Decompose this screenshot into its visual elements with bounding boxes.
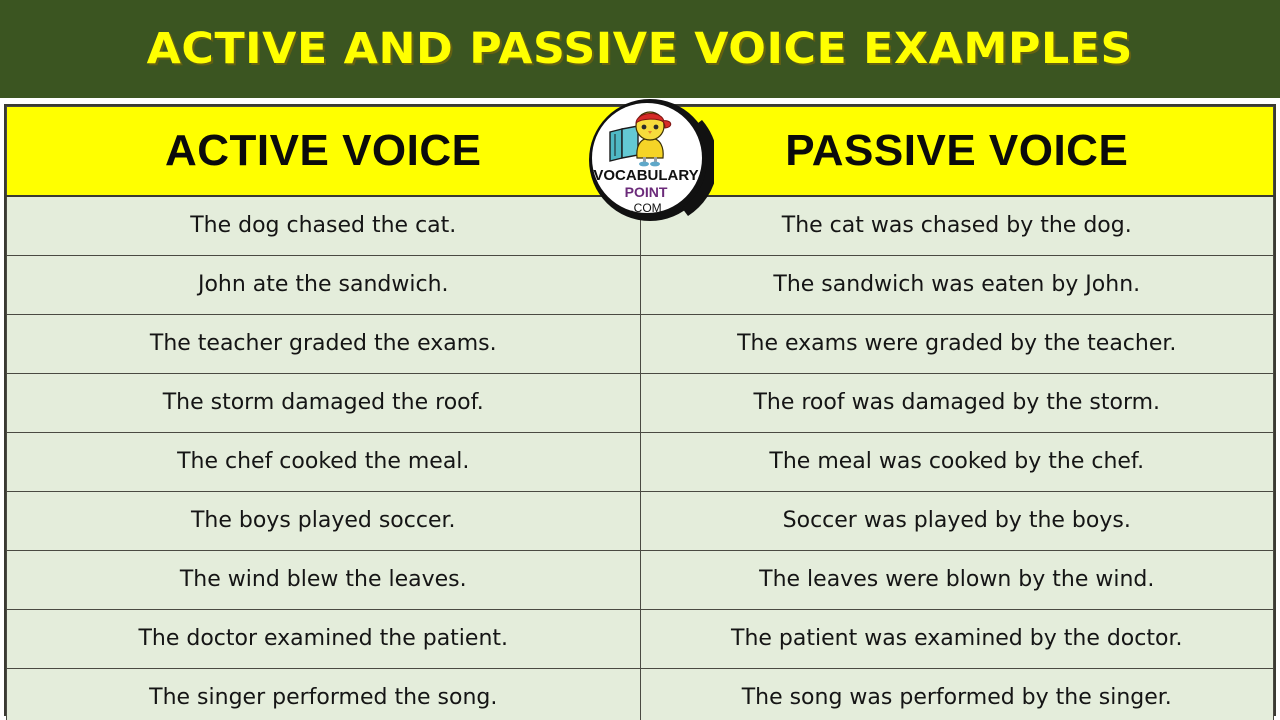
table-cell-active: The chef cooked the meal. xyxy=(7,433,641,492)
passive-voice-sentence: The leaves were blown by the wind. xyxy=(759,567,1154,592)
table-cell-passive: The roof was damaged by the storm. xyxy=(640,374,1274,433)
active-voice-sentence: The boys played soccer. xyxy=(191,508,456,533)
passive-voice-sentence: The meal was cooked by the chef. xyxy=(769,449,1144,474)
table-cell-active: The boys played soccer. xyxy=(7,492,641,551)
active-voice-sentence: The dog chased the cat. xyxy=(190,213,456,238)
table-cell-passive: The exams were graded by the teacher. xyxy=(640,315,1274,374)
table-cell-active: The storm damaged the roof. xyxy=(7,374,641,433)
vocabulary-point-logo: VOCABULARY POINT .COM xyxy=(586,96,714,224)
table-cell-passive: The sandwich was eaten by John. xyxy=(640,256,1274,315)
table-cell-passive: The patient was examined by the doctor. xyxy=(640,610,1274,669)
logo-line3: .COM xyxy=(630,201,661,215)
passive-voice-sentence: Soccer was played by the boys. xyxy=(783,508,1131,533)
title-banner: ACTIVE AND PASSIVE VOICE EXAMPLES xyxy=(0,0,1280,98)
table-cell-active: The doctor examined the patient. xyxy=(7,610,641,669)
logo-line1: VOCABULARY xyxy=(593,167,698,184)
page-title: ACTIVE AND PASSIVE VOICE EXAMPLES xyxy=(147,28,1133,71)
table-row: John ate the sandwich.The sandwich was e… xyxy=(7,256,1274,315)
active-voice-sentence: The teacher graded the exams. xyxy=(150,331,497,356)
active-voice-sentence: The chef cooked the meal. xyxy=(177,449,469,474)
table-cell-passive: Soccer was played by the boys. xyxy=(640,492,1274,551)
table-row: The chef cooked the meal.The meal was co… xyxy=(7,433,1274,492)
table-row: The singer performed the song.The song w… xyxy=(7,669,1274,720)
infographic-page: ACTIVE AND PASSIVE VOICE EXAMPLES ACTIVE… xyxy=(0,0,1280,720)
passive-voice-sentence: The sandwich was eaten by John. xyxy=(773,272,1140,297)
table-row: The boys played soccer.Soccer was played… xyxy=(7,492,1274,551)
column-header-active-label: ACTIVE VOICE xyxy=(7,129,640,173)
column-header-active: ACTIVE VOICE xyxy=(7,107,641,197)
table-row: The teacher graded the exams.The exams w… xyxy=(7,315,1274,374)
logo-book-icon xyxy=(610,126,638,161)
passive-voice-sentence: The song was performed by the singer. xyxy=(742,685,1172,710)
passive-voice-sentence: The cat was chased by the dog. xyxy=(782,213,1132,238)
active-voice-sentence: John ate the sandwich. xyxy=(198,272,449,297)
table-cell-passive: The meal was cooked by the chef. xyxy=(640,433,1274,492)
table-cell-active: The singer performed the song. xyxy=(7,669,641,720)
table-row: The wind blew the leaves.The leaves were… xyxy=(7,551,1274,610)
table-cell-active: The dog chased the cat. xyxy=(7,196,641,256)
passive-voice-sentence: The patient was examined by the doctor. xyxy=(731,626,1182,651)
table-cell-active: The wind blew the leaves. xyxy=(7,551,641,610)
column-header-passive-label: PASSIVE VOICE xyxy=(641,129,1274,173)
active-voice-sentence: The storm damaged the roof. xyxy=(163,390,484,415)
table-cell-passive: The song was performed by the singer. xyxy=(640,669,1274,720)
logo-line2: POINT xyxy=(625,184,668,200)
table-cell-passive: The cat was chased by the dog. xyxy=(640,196,1274,256)
column-header-passive: PASSIVE VOICE xyxy=(640,107,1274,197)
table-cell-passive: The leaves were blown by the wind. xyxy=(640,551,1274,610)
table-cell-active: John ate the sandwich. xyxy=(7,256,641,315)
table-cell-active: The teacher graded the exams. xyxy=(7,315,641,374)
passive-voice-sentence: The roof was damaged by the storm. xyxy=(753,390,1160,415)
table-row: The storm damaged the roof.The roof was … xyxy=(7,374,1274,433)
table-row: The doctor examined the patient.The pati… xyxy=(7,610,1274,669)
active-voice-sentence: The wind blew the leaves. xyxy=(180,567,467,592)
active-voice-sentence: The doctor examined the patient. xyxy=(138,626,508,651)
passive-voice-sentence: The exams were graded by the teacher. xyxy=(737,331,1176,356)
active-voice-sentence: The singer performed the song. xyxy=(149,685,497,710)
